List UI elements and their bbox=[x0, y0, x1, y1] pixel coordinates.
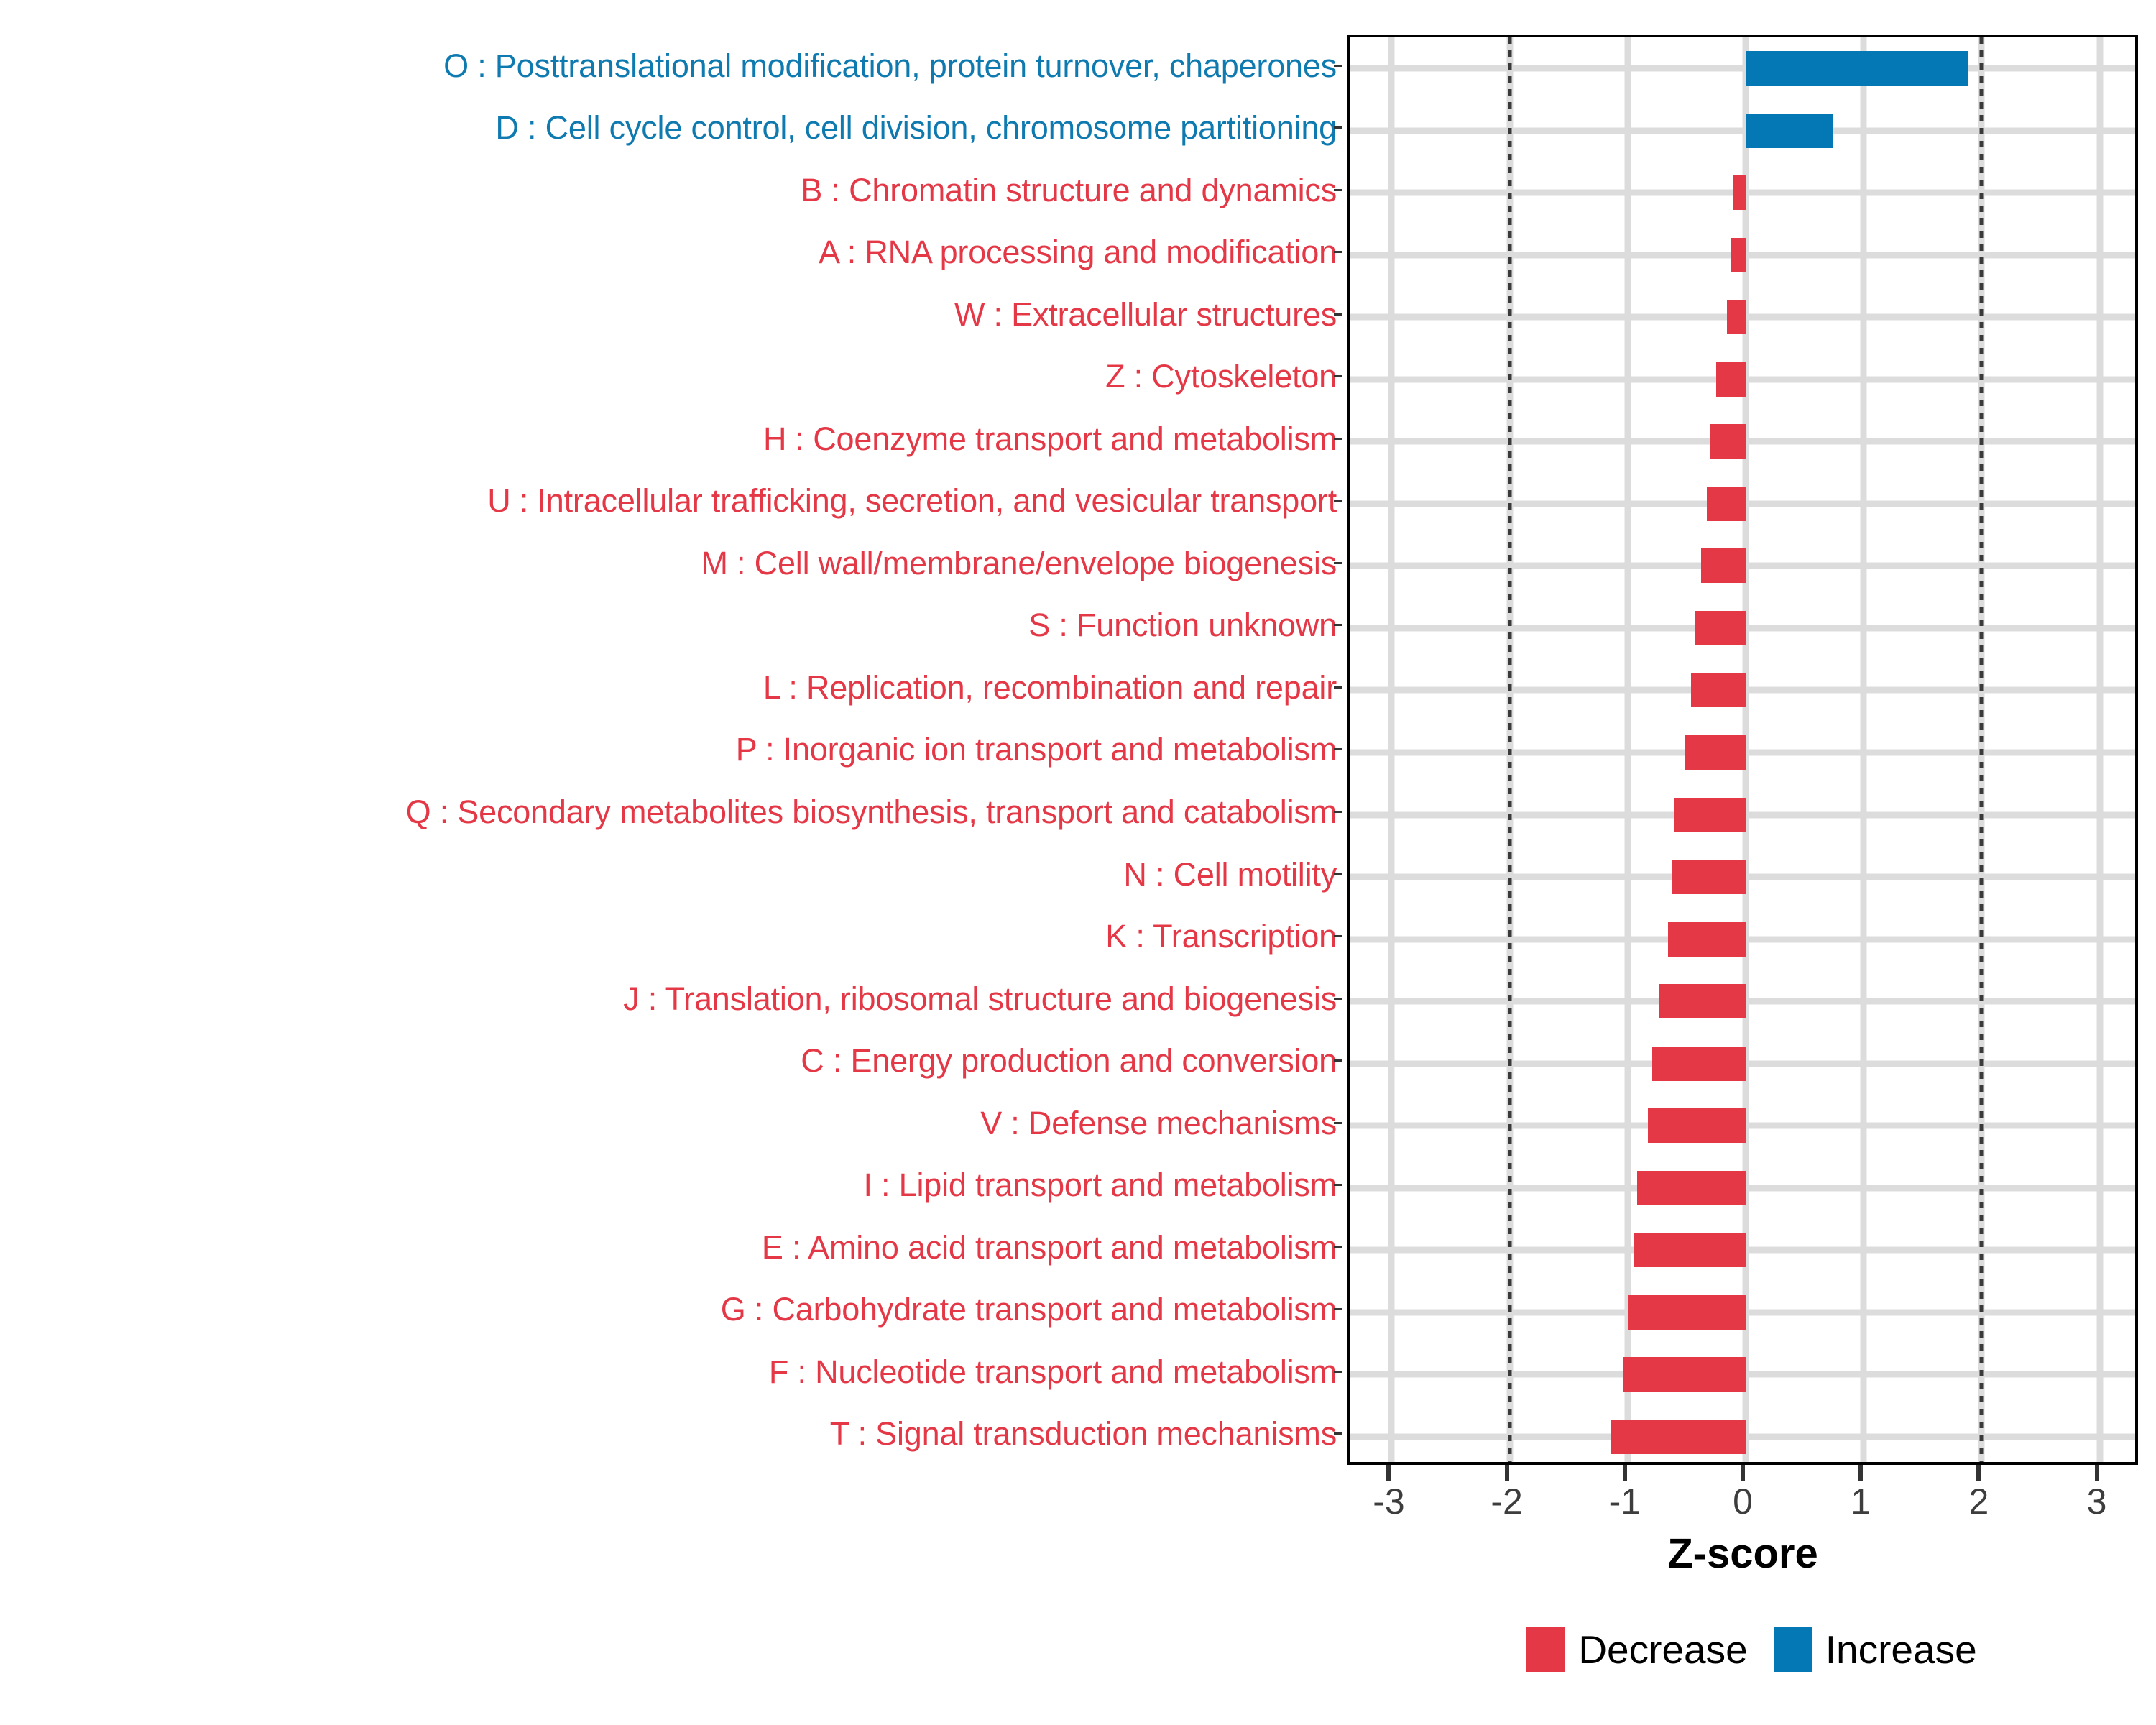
x-axis-tick bbox=[2095, 1465, 2099, 1481]
category-label-row: I : Lipid transport and metabolism bbox=[0, 1154, 1342, 1216]
x-axis-tick-label: -3 bbox=[1373, 1483, 1404, 1519]
y-axis-tick bbox=[1334, 998, 1342, 1000]
category-label: Z : Cytoskeleton bbox=[1105, 360, 1337, 392]
category-label: A : RNA processing and modification bbox=[819, 236, 1337, 268]
y-axis-tick bbox=[1334, 1184, 1342, 1186]
category-label: G : Carbohydrate transport and metabolis… bbox=[721, 1293, 1337, 1325]
bar-i[interactable] bbox=[1637, 1171, 1746, 1205]
y-axis-tick bbox=[1334, 1371, 1342, 1373]
y-axis-tick bbox=[1334, 811, 1342, 813]
category-label: N : Cell motility bbox=[1123, 858, 1337, 891]
y-axis-tick bbox=[1334, 313, 1342, 316]
bar-q[interactable] bbox=[1674, 798, 1746, 832]
category-axis-labels: O : Posttranslational modification, prot… bbox=[0, 34, 1342, 1465]
bar-j[interactable] bbox=[1659, 984, 1746, 1018]
y-axis-tick bbox=[1334, 65, 1342, 67]
category-label: I : Lipid transport and metabolism bbox=[863, 1169, 1337, 1201]
bar-u[interactable] bbox=[1707, 487, 1746, 521]
category-label-row: Q : Secondary metabolites biosynthesis, … bbox=[0, 781, 1342, 843]
category-label-row: A : RNA processing and modification bbox=[0, 221, 1342, 284]
y-axis-tick bbox=[1334, 686, 1342, 689]
x-axis-tick-label: -2 bbox=[1491, 1483, 1522, 1519]
y-axis-tick bbox=[1334, 1246, 1342, 1248]
y-axis-tick bbox=[1334, 189, 1342, 191]
category-label: D : Cell cycle control, cell division, c… bbox=[495, 111, 1337, 144]
y-axis-tick bbox=[1334, 438, 1342, 440]
bar-a[interactable] bbox=[1731, 238, 1746, 272]
y-axis-tick bbox=[1334, 562, 1342, 564]
category-label-row: E : Amino acid transport and metabolism bbox=[0, 1216, 1342, 1279]
y-axis-tick bbox=[1334, 126, 1342, 129]
category-label: K : Transcription bbox=[1105, 920, 1337, 952]
legend-swatch bbox=[1774, 1627, 1812, 1672]
bar-c[interactable] bbox=[1652, 1046, 1746, 1081]
category-label-row: L : Replication, recombination and repai… bbox=[0, 656, 1342, 719]
category-label: B : Chromatin structure and dynamics bbox=[801, 174, 1337, 206]
category-label-row: O : Posttranslational modification, prot… bbox=[0, 34, 1342, 97]
legend-item-increase[interactable]: Increase bbox=[1774, 1627, 1977, 1672]
category-label: J : Translation, ribosomal structure and… bbox=[623, 983, 1337, 1015]
bar-g[interactable] bbox=[1628, 1295, 1746, 1330]
x-axis-tick-label: 3 bbox=[2087, 1483, 2107, 1519]
legend: DecreaseIncrease bbox=[1347, 1621, 2156, 1678]
x-axis-tick bbox=[1623, 1465, 1627, 1481]
x-axis-tick bbox=[1858, 1465, 1863, 1481]
x-axis-tick bbox=[1741, 1465, 1745, 1481]
x-axis-title: Z-score bbox=[1347, 1529, 2138, 1578]
category-label-row: Z : Cytoskeleton bbox=[0, 346, 1342, 408]
bar-f[interactable] bbox=[1623, 1357, 1746, 1391]
category-label: C : Energy production and conversion bbox=[801, 1044, 1337, 1077]
category-label: O : Posttranslational modification, prot… bbox=[443, 50, 1337, 82]
category-label: F : Nucleotide transport and metabolism bbox=[769, 1356, 1337, 1388]
category-label-row: D : Cell cycle control, cell division, c… bbox=[0, 97, 1342, 160]
category-label: S : Function unknown bbox=[1028, 609, 1337, 641]
x-axis-tick bbox=[1976, 1465, 1981, 1481]
bar-t[interactable] bbox=[1611, 1420, 1746, 1454]
y-axis-tick bbox=[1334, 1432, 1342, 1435]
bar-k[interactable] bbox=[1668, 922, 1746, 957]
y-axis-tick bbox=[1334, 935, 1342, 937]
legend-label: Increase bbox=[1825, 1630, 1977, 1670]
category-label-row: B : Chromatin structure and dynamics bbox=[0, 159, 1342, 221]
bar-p[interactable] bbox=[1685, 735, 1746, 770]
category-label: Q : Secondary metabolites biosynthesis, … bbox=[406, 796, 1337, 828]
bar-o[interactable] bbox=[1746, 51, 1968, 86]
cog-zscore-barchart: O : Posttranslational modification, prot… bbox=[0, 0, 2156, 1725]
bar-w[interactable] bbox=[1727, 300, 1746, 334]
category-label: P : Inorganic ion transport and metaboli… bbox=[736, 733, 1337, 765]
category-label: H : Coenzyme transport and metabolism bbox=[763, 423, 1337, 455]
category-label: W : Extracellular structures bbox=[954, 298, 1337, 331]
plot-panel bbox=[1347, 34, 2138, 1465]
category-label: T : Signal transduction mechanisms bbox=[830, 1417, 1337, 1450]
category-label-row: H : Coenzyme transport and metabolism bbox=[0, 408, 1342, 470]
y-axis-tick bbox=[1334, 500, 1342, 502]
bar-v[interactable] bbox=[1648, 1108, 1746, 1143]
y-axis-tick bbox=[1334, 748, 1342, 750]
y-axis-tick bbox=[1334, 1059, 1342, 1062]
bar-l[interactable] bbox=[1691, 673, 1746, 707]
horizontal-gridline bbox=[1350, 127, 2135, 134]
category-label: U : Intracellular trafficking, secretion… bbox=[487, 484, 1337, 517]
horizontal-gridline bbox=[1350, 65, 2135, 72]
category-label-row: J : Translation, ribosomal structure and… bbox=[0, 967, 1342, 1030]
y-axis-tick bbox=[1334, 873, 1342, 875]
category-label-row: S : Function unknown bbox=[0, 594, 1342, 657]
bar-n[interactable] bbox=[1672, 860, 1746, 894]
category-label-row: T : Signal transduction mechanisms bbox=[0, 1402, 1342, 1465]
bar-b[interactable] bbox=[1733, 175, 1746, 210]
category-label-row: V : Defense mechanisms bbox=[0, 1092, 1342, 1154]
category-label: L : Replication, recombination and repai… bbox=[763, 671, 1337, 704]
x-axis-tick-label: 1 bbox=[1851, 1483, 1871, 1519]
category-label: V : Defense mechanisms bbox=[980, 1107, 1337, 1139]
y-axis-tick bbox=[1334, 251, 1342, 253]
reference-line bbox=[1980, 37, 1984, 1462]
bar-d[interactable] bbox=[1746, 114, 1833, 148]
legend-label: Decrease bbox=[1578, 1630, 1747, 1670]
x-axis-tick-label: 0 bbox=[1733, 1483, 1753, 1519]
bar-h[interactable] bbox=[1710, 424, 1746, 459]
category-label-row: P : Inorganic ion transport and metaboli… bbox=[0, 719, 1342, 781]
bar-s[interactable] bbox=[1695, 611, 1746, 645]
bar-m[interactable] bbox=[1701, 548, 1746, 583]
bar-e[interactable] bbox=[1634, 1233, 1746, 1267]
x-axis-tick-label: 2 bbox=[1968, 1483, 1989, 1519]
legend-swatch bbox=[1526, 1627, 1565, 1672]
x-axis-tick bbox=[1386, 1465, 1391, 1481]
plot-area bbox=[1350, 37, 2135, 1462]
category-label-row: C : Energy production and conversion bbox=[0, 1029, 1342, 1092]
category-label: M : Cell wall/membrane/envelope biogenes… bbox=[701, 547, 1337, 579]
y-axis-tick bbox=[1334, 375, 1342, 377]
reference-line bbox=[1508, 37, 1511, 1462]
y-axis-tick bbox=[1334, 1308, 1342, 1310]
bar-z[interactable] bbox=[1716, 362, 1746, 397]
category-label: E : Amino acid transport and metabolism bbox=[762, 1231, 1337, 1264]
category-label-row: U : Intracellular trafficking, secretion… bbox=[0, 470, 1342, 533]
category-label-row: G : Carbohydrate transport and metabolis… bbox=[0, 1278, 1342, 1340]
x-axis-tick-label: -1 bbox=[1609, 1483, 1641, 1519]
category-label-row: W : Extracellular structures bbox=[0, 283, 1342, 346]
category-label-row: M : Cell wall/membrane/envelope biogenes… bbox=[0, 532, 1342, 594]
x-axis-tick bbox=[1505, 1465, 1509, 1481]
y-axis-tick bbox=[1334, 624, 1342, 626]
category-label-row: F : Nucleotide transport and metabolism bbox=[0, 1340, 1342, 1403]
category-label-row: N : Cell motility bbox=[0, 843, 1342, 906]
legend-item-decrease[interactable]: Decrease bbox=[1526, 1627, 1747, 1672]
category-label-row: K : Transcription bbox=[0, 905, 1342, 967]
y-axis-tick bbox=[1334, 1122, 1342, 1124]
